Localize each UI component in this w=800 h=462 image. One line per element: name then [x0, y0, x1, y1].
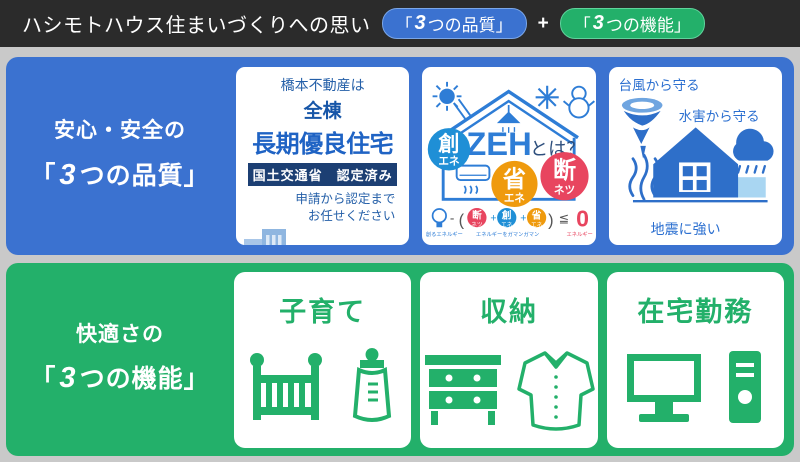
svg-text:+: +	[491, 212, 497, 224]
card-certification[interactable]: 橋本不動産は 全棟 長期優良住宅 国土交通省 認定済み 申請から認定まで お任せ…	[234, 65, 411, 247]
badge-close-bracket: 」	[674, 11, 691, 36]
badge-number: 3	[591, 12, 606, 35]
badge-open-bracket: 「	[574, 11, 591, 36]
svg-text:断: 断	[553, 157, 576, 183]
house-icon	[653, 127, 738, 197]
open-bracket: 「	[30, 162, 56, 190]
aircon-icon	[457, 166, 490, 194]
function-number: 3	[56, 362, 79, 394]
svg-text:創: 創	[501, 210, 512, 222]
quality-label-line2: 「3つの品質」	[6, 154, 234, 196]
formula-minus: -	[450, 210, 455, 225]
svg-text:省: 省	[531, 210, 542, 222]
svg-text:エネ: エネ	[501, 221, 513, 228]
infographic-root: ハシモトハウス住まいづくりへの思い 「3つの品質」 + 「3つの機能」 安心・安…	[0, 0, 800, 462]
badge-three-functions: 「3つの機能」	[560, 8, 705, 39]
svg-text:エネ: エネ	[531, 221, 543, 228]
quality-label-line1: 安心・安全の	[6, 116, 234, 146]
monitor-icon	[625, 350, 711, 426]
badge-open-bracket: 「	[396, 11, 413, 36]
snowman-icon	[564, 87, 595, 118]
remote-work-title: 在宅勤務	[607, 290, 784, 329]
building-icon	[236, 225, 298, 247]
dresser-icon	[423, 349, 503, 427]
circle-sou-ene: 創 エネ	[428, 128, 470, 170]
function-cards: 子育て	[234, 272, 794, 448]
cert-note: 申請から認定まで お任せください	[242, 191, 403, 225]
card-childcare[interactable]: 子育て	[234, 272, 411, 448]
childcare-title: 子育て	[234, 290, 411, 329]
cert-note-line1: 申請から認定まで	[242, 191, 395, 208]
badge-three-qualities: 「3つの品質」	[382, 8, 527, 39]
cert-line1: 橋本不動産は	[242, 75, 403, 95]
quality-text: つの品質	[80, 162, 184, 190]
badge-text: つの機能	[606, 11, 674, 36]
badge-text: つの品質	[428, 11, 496, 36]
caption-zero: エネルギー	[567, 231, 593, 238]
svg-text:断: 断	[472, 210, 482, 222]
baby-bottle-icon	[346, 346, 398, 430]
card-storage[interactable]: 収納	[420, 272, 597, 448]
badge-number: 3	[413, 12, 428, 35]
page-title: ハシモトハウス住まいづくりへの思い	[22, 9, 371, 38]
cert-line3: 長期優良住宅	[242, 124, 403, 159]
crib-icon	[248, 349, 332, 427]
function-label-line1: 快適さの	[6, 320, 234, 350]
seismic-wave-icon	[629, 155, 658, 199]
svg-text:エネ: エネ	[504, 192, 526, 204]
rain-cloud-icon	[733, 129, 773, 173]
close-bracket: 」	[184, 162, 210, 190]
zeh-heading: ZEH	[467, 125, 532, 162]
formula-paren-close: )	[548, 211, 553, 229]
caption-create: 創るエネルギー	[426, 230, 463, 238]
svg-text:省: 省	[502, 166, 526, 192]
svg-text:創: 創	[439, 132, 460, 156]
quality-cards: 橋本不動産は 全棟 長期優良住宅 国土交通省 認定済み 申請から認定まで お任せ…	[234, 65, 794, 247]
caption-middle: エネルギーをガマンガマン	[476, 230, 539, 238]
gov-certified-badge: 国土交通省 認定済み	[248, 163, 397, 186]
close-bracket: 」	[184, 365, 210, 393]
svg-text:ネツ: ネツ	[554, 185, 575, 197]
tornado-icon	[622, 98, 663, 159]
svg-text:+: +	[521, 212, 527, 224]
quality-panel: 安心・安全の 「3つの品質」 橋本不動産は 全棟 長期優良住宅 国土交通省 認定…	[6, 57, 794, 255]
formula-lte: ≦	[559, 211, 569, 225]
snowflake-icon	[536, 86, 559, 109]
formula-paren-open: (	[459, 211, 465, 229]
card-zeh[interactable]: ZEH とは？ 創	[420, 65, 597, 247]
bulb-icon	[433, 209, 446, 227]
cert-note-line2: お任せください	[242, 208, 395, 225]
sun-icon	[433, 82, 472, 121]
function-text: つの機能	[80, 365, 184, 393]
zeh-illustration: ZEH とは？ 創	[422, 67, 595, 245]
circle-shou-ene: 省 エネ	[492, 161, 538, 207]
badge-close-bracket: 」	[496, 11, 513, 36]
circle-dan-netsu: 断 ネツ	[541, 152, 589, 200]
function-panel: 快適さの 「3つの機能」 子育て	[6, 263, 794, 456]
storage-title: 収納	[420, 290, 597, 329]
function-panel-label: 快適さの 「3つの機能」	[6, 320, 234, 399]
svg-text:ネツ: ネツ	[471, 221, 483, 228]
quality-panel-label: 安心・安全の 「3つの品質」	[6, 116, 234, 195]
zeh-formula: - ( 断 ネツ + 創 エネ + 省 エネ	[426, 205, 593, 238]
function-label-line2: 「3つの機能」	[6, 357, 234, 399]
disaster-illustration	[609, 67, 782, 245]
svg-text:エネ: エネ	[439, 156, 461, 168]
formula-zero: 0	[576, 205, 589, 231]
shirt-icon	[517, 345, 595, 431]
header-bar: ハシモトハウス住まいづくりへの思い 「3つの品質」 + 「3つの機能」	[0, 0, 800, 47]
cert-line2: 全棟	[242, 96, 403, 123]
open-bracket: 「	[30, 365, 56, 393]
card-disaster[interactable]: 台風から守る 水害から守る 地震に強い	[607, 65, 784, 247]
card-remote-work[interactable]: 在宅勤務	[607, 272, 784, 448]
pc-tower-icon	[725, 349, 765, 427]
quality-number: 3	[56, 159, 79, 191]
plus-sign: +	[538, 13, 549, 35]
